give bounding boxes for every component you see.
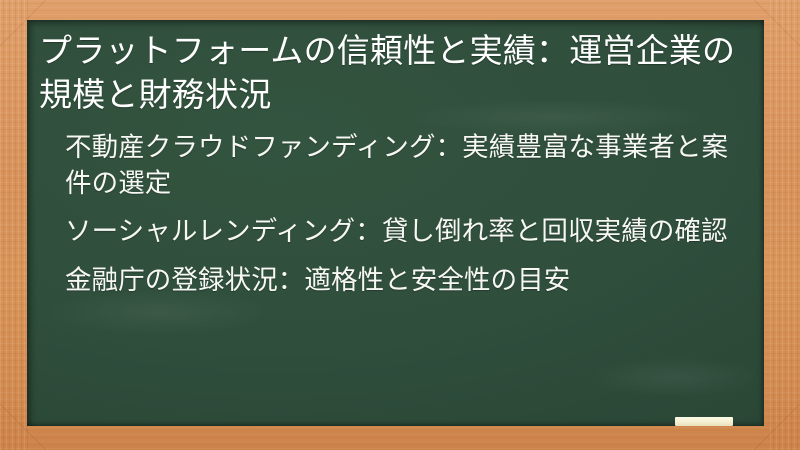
- chalkboard-surface: プラットフォームの信頼性と実績：運営企業の規模と財務状況 不動産クラウドファンデ…: [27, 20, 764, 426]
- slide-content: プラットフォームの信頼性と実績：運営企業の規模と財務状況 不動産クラウドファンデ…: [27, 20, 764, 426]
- bullet-list: 不動産クラウドファンディング：実績豊富な事業者と案件の選定 ソーシャルレンディン…: [33, 130, 748, 298]
- list-item: 不動産クラウドファンディング：実績豊富な事業者と案件の選定: [65, 130, 742, 201]
- chalk-stick-icon: [675, 417, 733, 426]
- blackboard-frame: プラットフォームの信頼性と実績：運営企業の規模と財務状況 不動産クラウドファンデ…: [0, 0, 800, 450]
- wood-grain-right: [770, 0, 800, 450]
- wood-grain-left: [0, 0, 30, 450]
- list-item: ソーシャルレンディング：貸し倒れ率と回収実績の確認: [65, 214, 742, 250]
- slide-title: プラットフォームの信頼性と実績：運営企業の規模と財務状況: [33, 29, 748, 116]
- list-item: 金融庁の登録状況：適格性と安全性の目安: [65, 263, 742, 299]
